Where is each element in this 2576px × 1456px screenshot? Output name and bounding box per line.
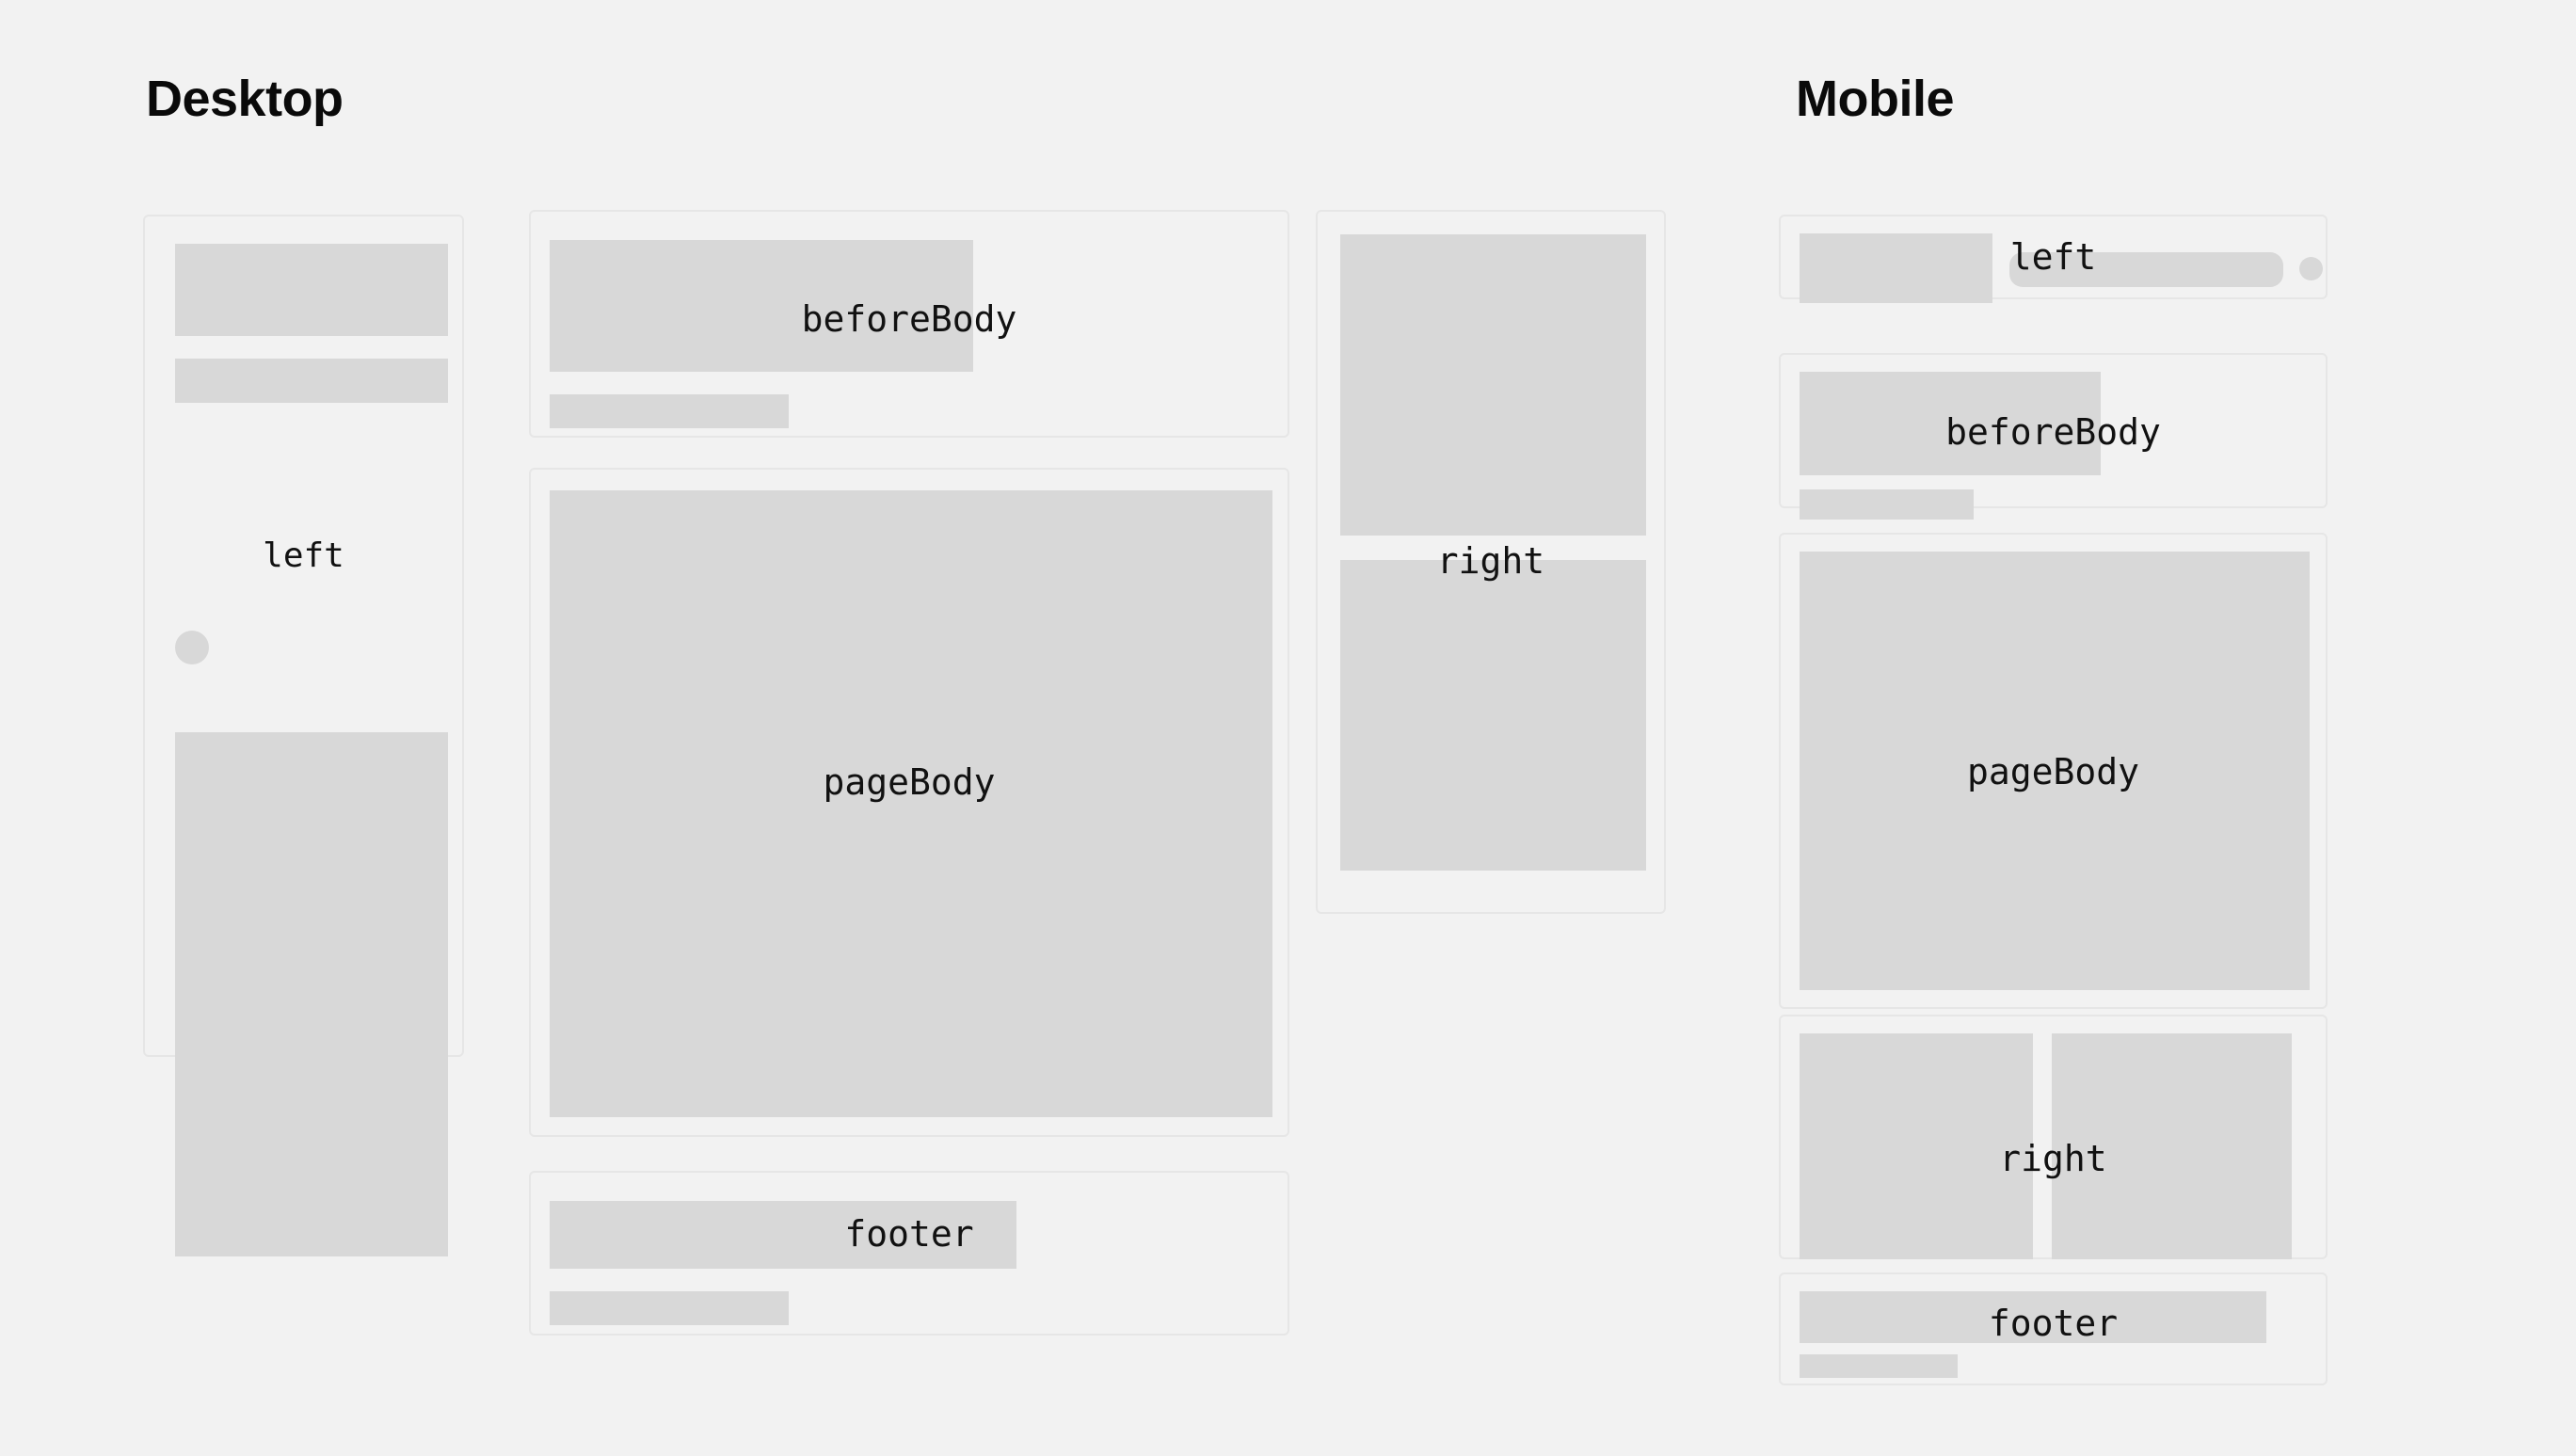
mobile-pagebody-region-panel[interactable] (1779, 533, 2328, 1009)
desktop-pagebody-region-panel[interactable] (529, 468, 1289, 1137)
placeholder-block (550, 1291, 789, 1325)
placeholder-block (1340, 234, 1646, 536)
mobile-right-region-panel[interactable] (1779, 1015, 2328, 1259)
placeholder-block (1800, 1354, 1958, 1378)
placeholder-block (175, 732, 448, 1256)
placeholder-block (2052, 1033, 2292, 1259)
mobile-left-region-panel[interactable] (1779, 215, 2328, 299)
placeholder-block (550, 240, 973, 372)
desktop-left-region-panel[interactable] (143, 215, 464, 1057)
placeholder-block (1800, 1291, 2266, 1343)
placeholder-circle-icon (2299, 257, 2323, 280)
placeholder-block (550, 394, 789, 428)
placeholder-pill (2009, 252, 2283, 287)
placeholder-block (1800, 489, 1974, 520)
placeholder-block (550, 1201, 1016, 1269)
desktop-right-region-panel[interactable] (1316, 210, 1666, 914)
layout-preview-canvas: Desktop Mobile left beforeBody pageBody … (0, 0, 2576, 1456)
placeholder-circle-icon (175, 631, 209, 664)
placeholder-block (1340, 560, 1646, 871)
desktop-section-heading: Desktop (146, 73, 344, 124)
placeholder-block (175, 359, 448, 403)
mobile-section-heading: Mobile (1796, 73, 1954, 124)
placeholder-block (1800, 552, 2310, 990)
placeholder-block (550, 490, 1272, 1117)
desktop-footer-region-panel[interactable] (529, 1171, 1289, 1336)
mobile-beforebody-region-panel[interactable] (1779, 353, 2328, 508)
desktop-beforebody-region-panel[interactable] (529, 210, 1289, 438)
placeholder-block (175, 244, 448, 336)
placeholder-block (1800, 1033, 2033, 1259)
mobile-footer-region-panel[interactable] (1779, 1272, 2328, 1385)
placeholder-block (1800, 233, 1992, 303)
placeholder-block (1800, 372, 2101, 475)
